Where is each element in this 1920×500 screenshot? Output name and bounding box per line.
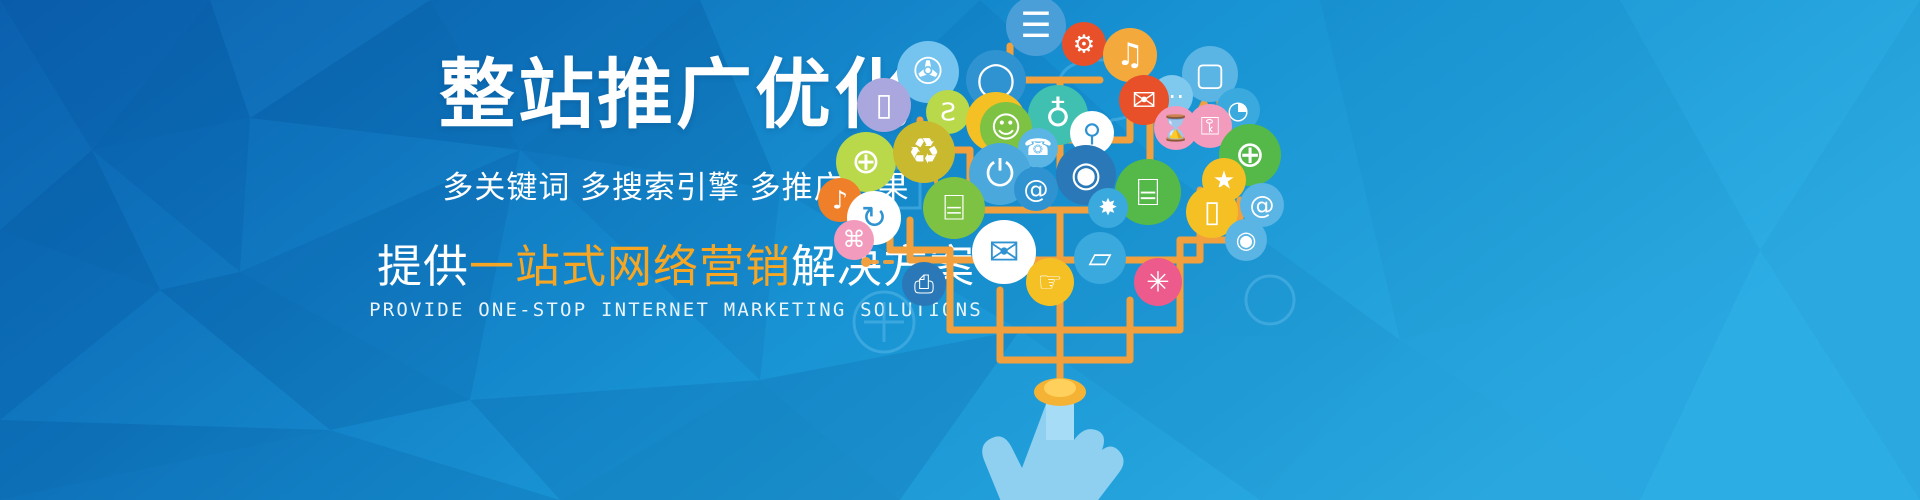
svg-text:@: @ (1024, 175, 1049, 204)
svg-text:▯: ▯ (1204, 195, 1221, 230)
snowflake-icon: ✸ (1088, 188, 1128, 228)
svg-text:♻: ♻ (908, 132, 940, 173)
remote-icon: ▯ (857, 78, 911, 132)
svg-text:⌸: ⌸ (1137, 170, 1160, 214)
svg-text:▢: ▢ (1195, 55, 1225, 93)
headphones-icon: ♫ (1103, 28, 1157, 82)
svg-text:Ƨ: Ƨ (940, 98, 956, 127)
svg-text:▱: ▱ (1088, 241, 1111, 276)
svg-text:@: @ (1250, 191, 1275, 220)
svg-text:✳: ✳ (1146, 266, 1169, 299)
svg-text:✸: ✸ (1098, 195, 1117, 221)
tagline-lead: 提供 (377, 241, 469, 292)
svg-text:✉: ✉ (1132, 83, 1156, 117)
svg-text:✉: ✉ (988, 231, 1019, 274)
tagline-accent: 一站式网络营销 (469, 241, 791, 292)
envelope-icon: ✉ (972, 220, 1036, 284)
svg-text:⌛: ⌛ (1160, 114, 1191, 143)
at-icon: @ (1014, 167, 1058, 211)
printer-icon: ⎙ (902, 262, 946, 306)
svg-text:⚲: ⚲ (1083, 119, 1101, 148)
svg-text:☞: ☞ (1037, 266, 1062, 299)
tag-icon: ▱ (1074, 232, 1126, 284)
gear-icon: ⚙ (1062, 22, 1106, 66)
recycle-icon: ♻ (893, 121, 955, 183)
svg-text:☰: ☰ (1020, 6, 1051, 46)
document-icon: ☰ (1006, 0, 1066, 56)
cursor-icon: ☞ (1026, 258, 1074, 306)
svg-text:♁: ♁ (1045, 95, 1071, 135)
svg-text:☺: ☺ (990, 111, 1021, 146)
laptop-icon: ⌸ (923, 177, 985, 239)
svg-text:◉: ◉ (1071, 155, 1102, 195)
svg-text:♫: ♫ (1116, 37, 1144, 73)
svg-text:✇: ✇ (913, 52, 943, 93)
hourglass-icon: ⌛ (1154, 106, 1198, 150)
icon-tree-illustration: ☰⚙♫✇◯▢⋯Ƨ▭▯✉◔♁☺⚿⚲☎⊕♻⏻⊕@◉★♪↻⌸⌸✸▯@⌛✉▱◉⌘✳⎙☞ (780, 0, 1340, 500)
cart-icon: ⌘ (834, 220, 874, 260)
eye-icon: ◉ (1225, 219, 1267, 261)
pointing-hand-icon (982, 378, 1123, 500)
svg-text:⌸: ⌸ (943, 188, 965, 229)
svg-text:⚿: ⚿ (1200, 112, 1219, 141)
svg-text:▯: ▯ (875, 87, 892, 123)
svg-text:⏻: ⏻ (986, 154, 1014, 195)
svg-text:⊕: ⊕ (851, 142, 880, 182)
svg-text:☎: ☎ (1024, 135, 1053, 161)
svg-text:⎙: ⎙ (914, 270, 934, 299)
svg-text:◉: ◉ (1236, 226, 1257, 254)
svg-text:⚙: ⚙ (1073, 30, 1095, 59)
asterisk-icon: ✳ (1134, 258, 1182, 306)
promo-banner: 整站推广优化 多关键词 多搜索引擎 多推广效果 提供一站式网络营销解决方案 PR… (0, 0, 1920, 500)
svg-text:⌘: ⌘ (843, 227, 866, 253)
svg-text:♪: ♪ (832, 186, 848, 215)
